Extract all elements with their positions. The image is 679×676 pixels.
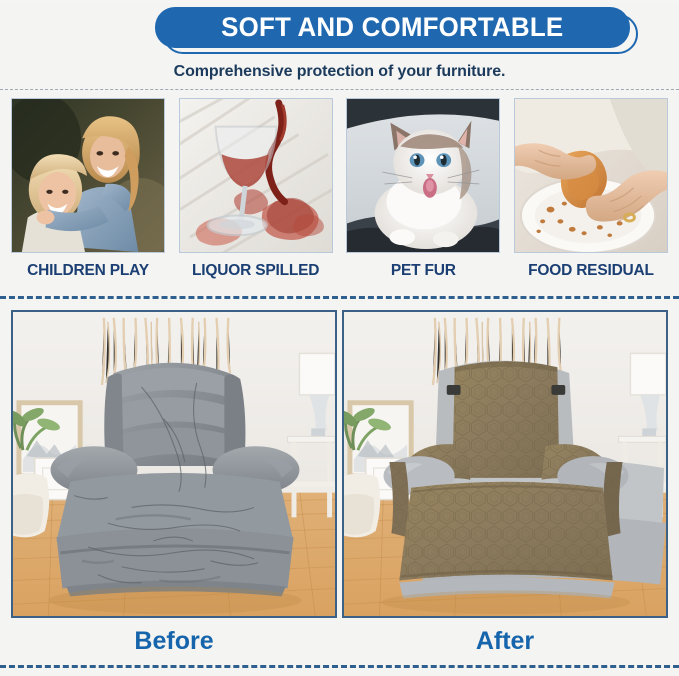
use-case-item: CHILDREN PLAY bbox=[11, 98, 165, 280]
divider-top bbox=[0, 89, 679, 90]
after-label: After bbox=[342, 627, 668, 656]
use-case-row: CHILDREN PLAY bbox=[0, 98, 679, 280]
before-room-photo bbox=[11, 310, 337, 618]
children-play-photo bbox=[11, 98, 165, 253]
infographic-page: SOFT AND COMFORTABLE Comprehensive prote… bbox=[0, 3, 679, 676]
pet-fur-photo bbox=[346, 98, 500, 253]
page-title: SOFT AND COMFORTABLE bbox=[221, 12, 563, 43]
banner-pill: SOFT AND COMFORTABLE bbox=[155, 7, 630, 48]
use-case-item: LIQUOR SPILLED bbox=[179, 98, 333, 280]
after-room-photo bbox=[342, 310, 668, 618]
use-case-item: FOOD RESIDUAL bbox=[514, 98, 668, 280]
before-panel: Before bbox=[11, 310, 337, 656]
divider-middle bbox=[0, 296, 679, 299]
use-case-item: PET FUR bbox=[346, 98, 500, 280]
page-subtitle: Comprehensive protection of your furnitu… bbox=[0, 63, 679, 81]
before-after-row: Before bbox=[0, 310, 679, 656]
use-case-label: CHILDREN PLAY bbox=[11, 262, 165, 280]
after-panel: After bbox=[342, 310, 668, 656]
use-case-label: LIQUOR SPILLED bbox=[179, 262, 333, 280]
before-label: Before bbox=[11, 627, 337, 656]
liquor-spilled-photo bbox=[179, 98, 333, 253]
use-case-label: FOOD RESIDUAL bbox=[514, 262, 668, 280]
divider-bottom bbox=[0, 665, 679, 668]
food-residual-photo bbox=[514, 98, 668, 253]
use-case-label: PET FUR bbox=[346, 262, 500, 280]
header-banner: SOFT AND COMFORTABLE bbox=[0, 3, 679, 55]
